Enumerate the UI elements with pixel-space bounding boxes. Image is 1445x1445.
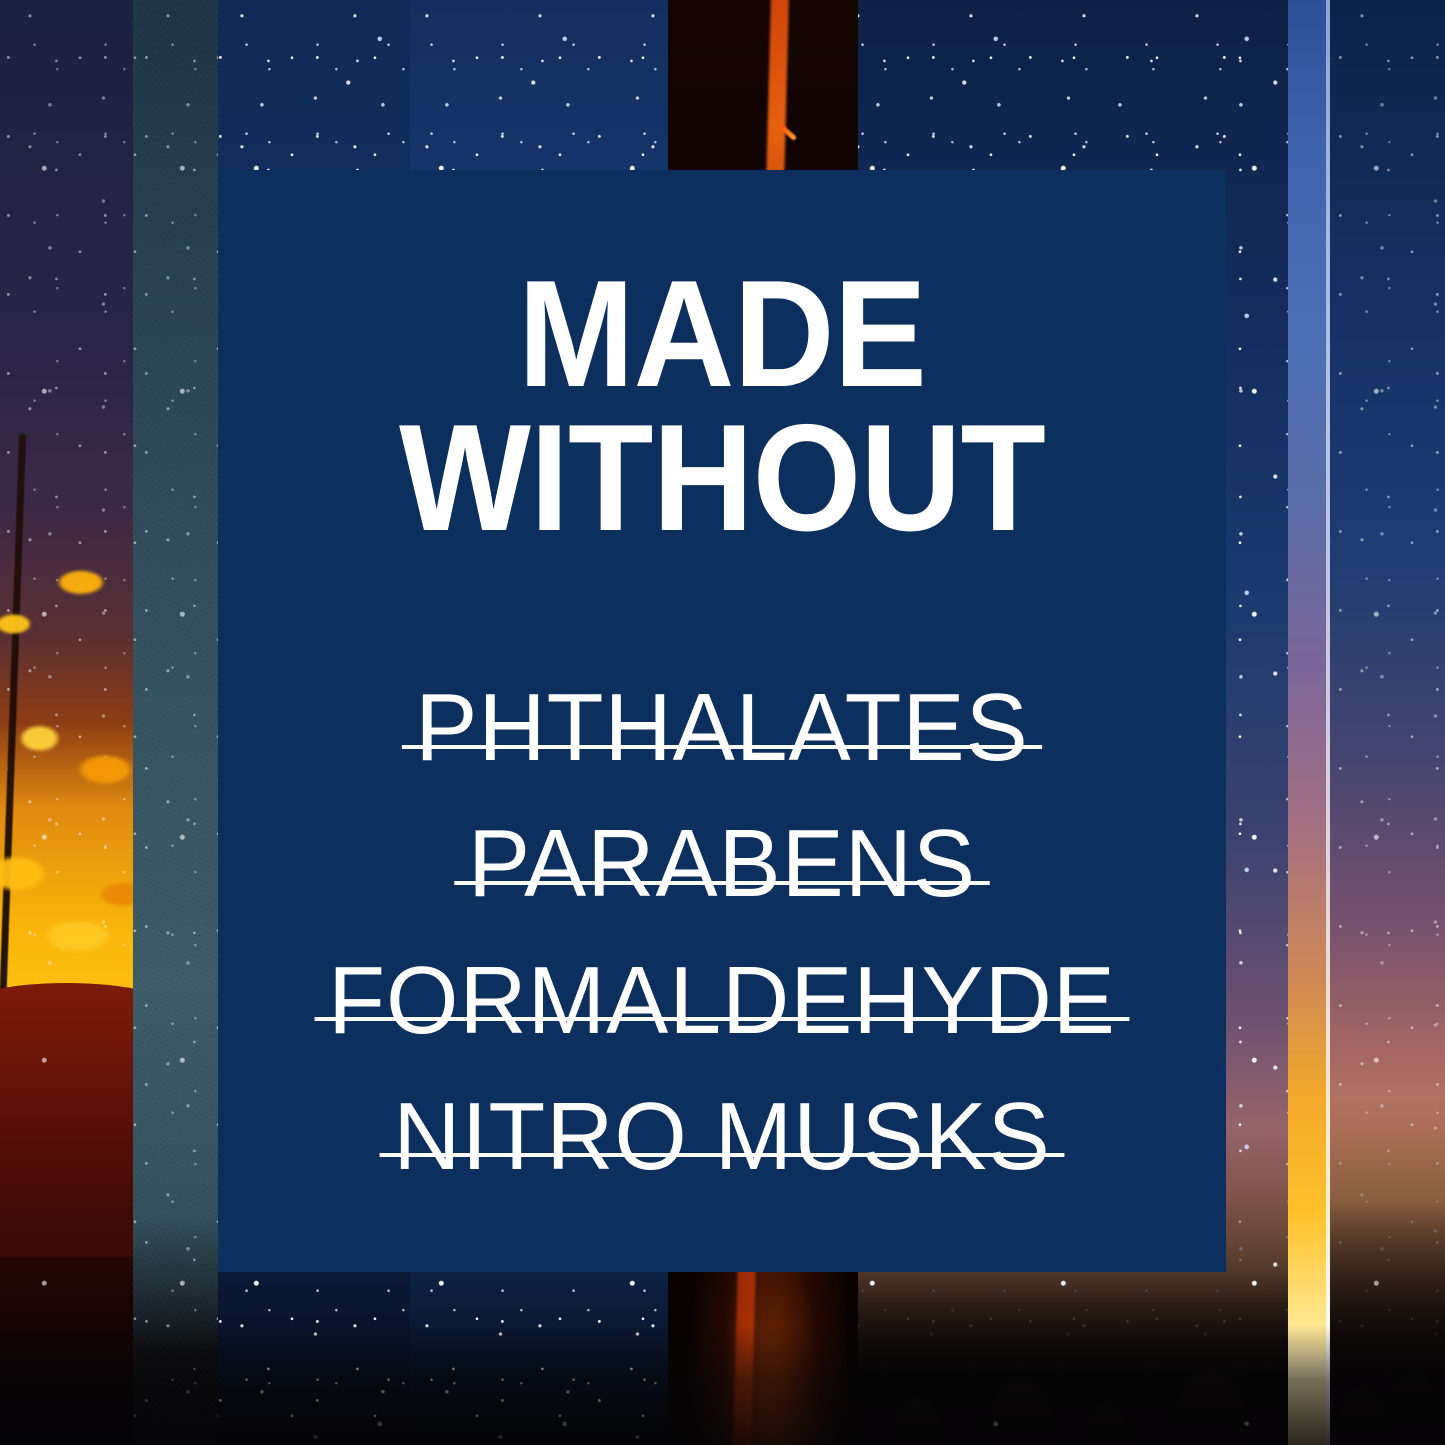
ingredient-label: FORMALDEHYDE bbox=[328, 933, 1116, 1069]
made-without-panel: MADE WITHOUT PHTHALATES PARABENS FORMALD… bbox=[218, 170, 1226, 1272]
background-strip-burning-tree-aurora bbox=[0, 0, 133, 1445]
ingredient-label: NITRO MUSKS bbox=[393, 1069, 1050, 1205]
background-strip-teal-starfield bbox=[133, 0, 218, 1445]
headline-line-1: MADE bbox=[258, 262, 1185, 406]
glowing-foliage bbox=[0, 520, 133, 1040]
dark-foreground-band bbox=[0, 1257, 133, 1445]
background-strip-aurora-column bbox=[1288, 0, 1330, 1445]
product-lifestyle-graphic: MADE WITHOUT PHTHALATES PARABENS FORMALD… bbox=[0, 0, 1445, 1445]
excluded-ingredient-list: PHTHALATES PARABENS FORMALDEHYDE NITRO M… bbox=[218, 660, 1226, 1205]
background-strip-night-sky-right bbox=[1330, 0, 1445, 1445]
ingredient-label: PHTHALATES bbox=[415, 660, 1028, 796]
tree-silhouette-treeline bbox=[1330, 1098, 1445, 1445]
excluded-ingredient-item: FORMALDEHYDE bbox=[233, 933, 1211, 1069]
film-grain-texture bbox=[133, 0, 218, 1445]
ingredient-label: PARABENS bbox=[468, 796, 976, 932]
excluded-ingredient-item: PARABENS bbox=[233, 796, 1211, 932]
headline: MADE WITHOUT bbox=[258, 262, 1185, 551]
headline-line-2: WITHOUT bbox=[258, 406, 1185, 550]
excluded-ingredient-item: NITRO MUSKS bbox=[233, 1069, 1211, 1205]
excluded-ingredient-item: PHTHALATES bbox=[233, 660, 1211, 796]
